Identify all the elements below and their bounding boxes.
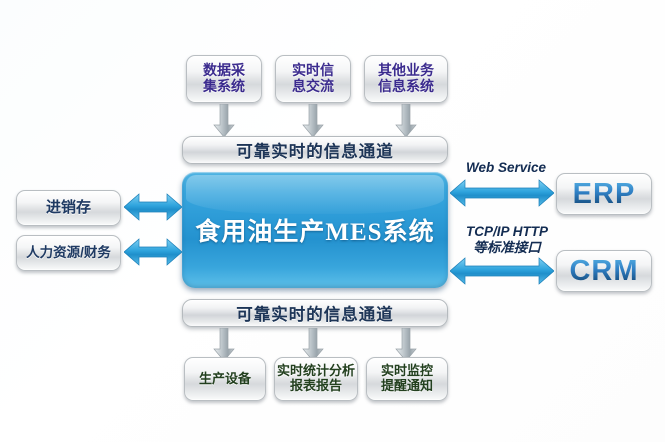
diagram-canvas: 数据采 集系统 实时信 息交流 其他业务 信息系统 [0, 0, 665, 442]
top-node-data-collection[interactable]: 数据采 集系统 [186, 55, 262, 103]
arrow-bidirectional-right-erp [450, 177, 554, 209]
right-node-1-label: CRM [569, 255, 638, 287]
left-node-0-label: 进销存 [46, 200, 91, 217]
right-node-0-label: ERP [573, 178, 636, 210]
bottom-node-realtime-monitoring-alerts[interactable]: 实时监控 提醒通知 [366, 357, 448, 401]
bottom-node-2-line1: 实时监控 [381, 364, 433, 379]
arrow-down-top-2 [395, 104, 417, 138]
right-node-erp[interactable]: ERP [556, 173, 652, 215]
channel-bottom-label: 可靠实时的信息通道 [236, 301, 394, 325]
center-mes-system-box[interactable]: 食用油生产MES系统 [182, 172, 448, 288]
bottom-node-production-equipment[interactable]: 生产设备 [184, 357, 266, 401]
center-mes-title: 食用油生产MES系统 [195, 212, 434, 248]
bottom-node-2-line2: 提醒通知 [381, 379, 433, 394]
interface-label-1-line2: 等标准接口 [473, 240, 541, 255]
top-node-realtime-info-exchange[interactable]: 实时信 息交流 [275, 55, 351, 103]
arrow-down-top-0 [213, 104, 235, 138]
arrow-bidirectional-right-crm [450, 255, 554, 287]
channel-top-label: 可靠实时的信息通道 [236, 138, 394, 162]
bottom-node-realtime-statistics-reports[interactable]: 实时统计分析 报表报告 [274, 357, 358, 401]
top-node-1-line1: 实时信 [292, 63, 334, 79]
top-node-2-line1: 其他业务 [378, 63, 434, 79]
arrow-down-top-1 [302, 104, 324, 138]
left-node-hr-finance[interactable]: 人力资源/财务 [16, 235, 121, 271]
bottom-node-0-line1: 生产设备 [199, 372, 251, 387]
interface-label-1-line1: TCP/IP HTTP [466, 224, 548, 239]
arrow-bidirectional-left-1 [124, 236, 182, 268]
interface-label-tcpip-http: TCP/IP HTTP 等标准接口 [452, 224, 562, 255]
right-node-crm[interactable]: CRM [556, 250, 652, 292]
interface-label-0-line1: Web Service [466, 160, 546, 175]
top-node-0-line2: 集系统 [203, 79, 245, 95]
bottom-node-1-line1: 实时统计分析 [277, 364, 355, 379]
top-node-1-line2: 息交流 [292, 79, 334, 95]
top-node-2-line2: 信息系统 [378, 79, 434, 95]
channel-bar-bottom: 可靠实时的信息通道 [182, 299, 448, 327]
channel-bar-top: 可靠实时的信息通道 [182, 136, 448, 164]
top-node-other-business-systems[interactable]: 其他业务 信息系统 [364, 55, 448, 103]
bottom-node-1-line2: 报表报告 [277, 379, 355, 394]
interface-label-web-service: Web Service [456, 160, 556, 176]
top-node-0-line1: 数据采 [203, 63, 245, 79]
arrow-bidirectional-left-0 [124, 191, 182, 223]
left-node-1-label: 人力资源/财务 [26, 245, 111, 260]
left-node-inventory[interactable]: 进销存 [16, 190, 121, 226]
